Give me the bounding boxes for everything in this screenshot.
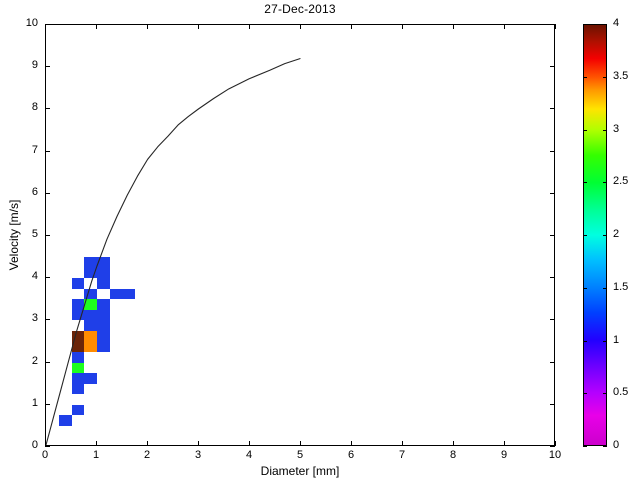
x-axis-tick-top <box>198 24 199 29</box>
y-axis-tick-right <box>550 362 555 363</box>
x-axis-tick-label: 4 <box>229 449 269 461</box>
colorbar-tick-right <box>603 341 607 342</box>
y-axis-tick-right <box>550 404 555 405</box>
x-axis-tick <box>402 441 403 446</box>
colorbar-tick <box>583 341 587 342</box>
colorbar[interactable]: 00.511.522.533.54 <box>583 24 607 446</box>
x-axis-tick-label: 8 <box>433 449 473 461</box>
y-axis-tick-label: 8 <box>4 101 38 113</box>
x-axis-tick <box>300 441 301 446</box>
colorbar-tick-right <box>603 130 607 131</box>
y-axis-tick-right <box>550 446 555 447</box>
x-axis-tick-top <box>402 24 403 29</box>
y-axis-tick-right <box>550 235 555 236</box>
x-axis-tick <box>351 441 352 446</box>
page-title: 27-Dec-2013 <box>0 2 600 16</box>
y-axis-tick-right <box>550 151 555 152</box>
x-axis-tick-top <box>504 24 505 29</box>
colorbar-tick-right <box>603 288 607 289</box>
y-axis-tick-right <box>550 24 555 25</box>
y-axis-tick <box>45 108 50 109</box>
y-axis-tick <box>45 235 50 236</box>
colorbar-tick-label: 3.5 <box>613 70 628 82</box>
colorbar-tick <box>583 77 587 78</box>
x-axis-tick-label: 7 <box>382 449 422 461</box>
y-axis-tick-label: 0 <box>4 439 38 451</box>
colorbar-tick-label: 2.5 <box>613 175 628 187</box>
colorbar-tick <box>583 24 587 25</box>
x-axis-tick <box>198 441 199 446</box>
y-axis-tick <box>45 151 50 152</box>
colorbar-tick-right <box>603 393 607 394</box>
x-axis-label: Diameter [mm] <box>45 464 555 478</box>
y-axis-tick <box>45 319 50 320</box>
x-axis-tick-top <box>453 24 454 29</box>
y-axis-tick <box>45 66 50 67</box>
x-axis-tick-label: 5 <box>280 449 320 461</box>
colorbar-tick-label: 0.5 <box>613 386 628 398</box>
x-axis-tick-label: 9 <box>484 449 524 461</box>
colorbar-tick-right <box>603 24 607 25</box>
y-axis-tick <box>45 362 50 363</box>
plot-area[interactable] <box>45 24 555 446</box>
x-axis-tick <box>504 441 505 446</box>
colorbar-tick-label: 1 <box>613 334 619 346</box>
x-axis-tick-top <box>300 24 301 29</box>
x-axis-tick-label: 2 <box>127 449 167 461</box>
y-axis-label: Velocity [m/s] <box>7 125 21 345</box>
colorbar-tick <box>583 446 587 447</box>
x-axis-tick-top <box>351 24 352 29</box>
colorbar-tick-right <box>603 446 607 447</box>
y-axis-tick <box>45 277 50 278</box>
x-axis-tick-label: 6 <box>331 449 371 461</box>
colorbar-tick <box>583 393 587 394</box>
y-axis-tick-right <box>550 66 555 67</box>
y-axis-tick-right <box>550 319 555 320</box>
x-axis-tick-top <box>147 24 148 29</box>
x-axis-tick-label: 3 <box>178 449 218 461</box>
x-axis-tick-top <box>96 24 97 29</box>
y-axis-tick-label: 2 <box>4 355 38 367</box>
colorbar-tick <box>583 182 587 183</box>
y-axis-tick-label: 9 <box>4 59 38 71</box>
colorbar-tick-right <box>603 235 607 236</box>
colorbar-tick-right <box>603 77 607 78</box>
x-axis-tick <box>453 441 454 446</box>
y-axis-tick <box>45 404 50 405</box>
x-axis-tick <box>96 441 97 446</box>
colorbar-tick <box>583 235 587 236</box>
colorbar-tick-label: 4 <box>613 17 619 29</box>
colorbar-tick <box>583 288 587 289</box>
colorbar-tick-label: 3 <box>613 123 619 135</box>
x-axis-tick <box>147 441 148 446</box>
colorbar-tick-label: 1.5 <box>613 281 628 293</box>
y-axis-tick <box>45 446 50 447</box>
colorbar-tick-label: 2 <box>613 228 619 240</box>
x-axis-tick-label: 1 <box>76 449 116 461</box>
x-axis-tick-label: 10 <box>535 449 575 461</box>
terminal-velocity-curve <box>46 25 554 445</box>
y-axis-tick-label: 10 <box>4 17 38 29</box>
colorbar-tick-right <box>603 182 607 183</box>
x-axis-tick <box>249 441 250 446</box>
y-axis-tick-right <box>550 108 555 109</box>
x-axis-tick <box>555 441 556 446</box>
y-axis-tick <box>45 193 50 194</box>
figure-canvas: 27-Dec-2013 012345678910012345678910 Dia… <box>0 0 640 480</box>
y-axis-tick-right <box>550 277 555 278</box>
y-axis-tick-label: 1 <box>4 397 38 409</box>
y-axis-tick <box>45 24 50 25</box>
x-axis-tick-top <box>249 24 250 29</box>
x-axis-tick-top <box>555 24 556 29</box>
colorbar-tick-label: 0 <box>613 439 619 451</box>
colorbar-tick <box>583 130 587 131</box>
y-axis-tick-right <box>550 193 555 194</box>
